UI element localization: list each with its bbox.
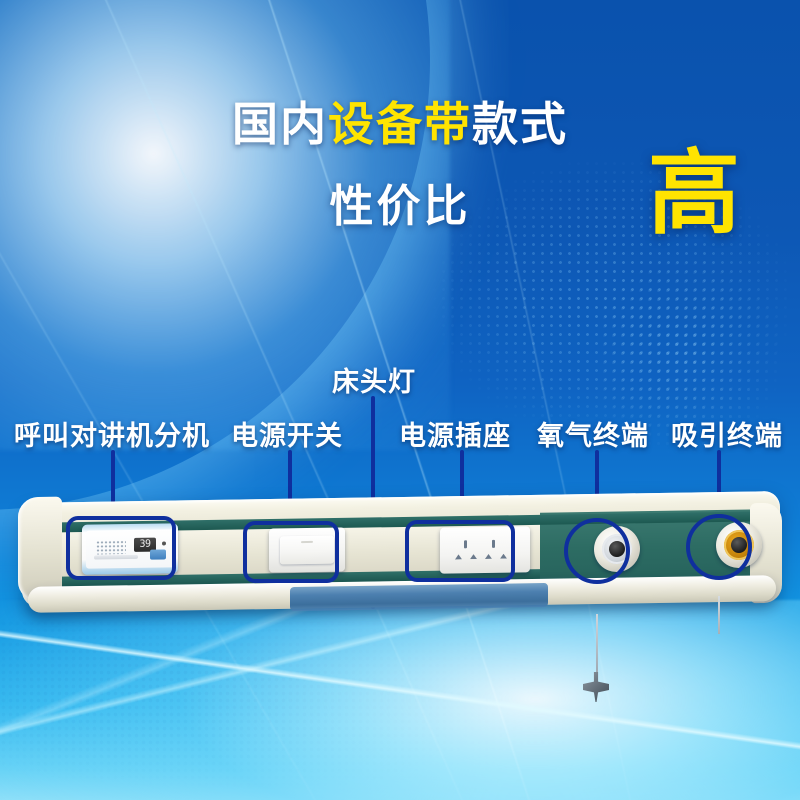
headline-part-2: 设备带	[328, 97, 472, 151]
callout-label-power-switch: 电源开关	[231, 414, 343, 453]
callout-label-nurse-call: 呼叫对讲机分机	[14, 414, 210, 453]
suction-hanging-cord	[718, 596, 720, 634]
bottom-light-streaks	[0, 600, 800, 800]
oxygen-hanging-cord	[596, 614, 598, 680]
headline-part-3: 款式	[472, 97, 568, 151]
bottom-glow	[0, 600, 800, 800]
emphasis-character: 高	[648, 148, 740, 240]
highlight-circle-suction	[686, 514, 752, 580]
highlight-box-nurse-call	[66, 516, 176, 580]
product-banner: 国内设备带款式 性价比 高 呼叫对讲机分机 电源开关 床头灯 电源插座 氧气终端…	[0, 0, 800, 800]
bed-head-lamp-diffuser	[290, 583, 548, 611]
callout-label-bed-lamp: 床头灯	[332, 360, 416, 399]
cross-fitting-icon	[583, 672, 609, 702]
headline-part-1: 国内	[232, 97, 328, 151]
highlight-circle-oxygen	[564, 518, 630, 584]
highlight-box-power-switch	[243, 521, 339, 583]
faint-world-map	[0, 620, 800, 800]
callout-label-suction: 吸引终端	[671, 414, 783, 453]
callout-label-oxygen: 氧气终端	[537, 414, 649, 453]
callout-label-power-socket: 电源插座	[399, 414, 511, 453]
highlight-box-power-socket	[405, 520, 515, 582]
